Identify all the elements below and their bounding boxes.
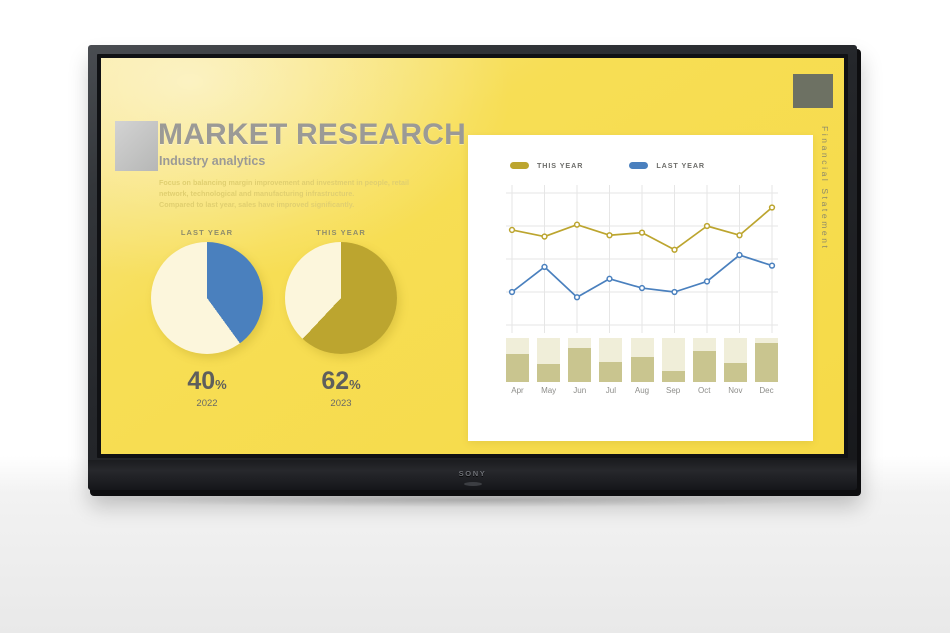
bar-axis-label: Aug	[631, 386, 654, 395]
legend-item-last-year: LAST YEAR	[629, 161, 705, 170]
line-chart	[506, 185, 778, 333]
decorative-olive-block	[793, 74, 833, 108]
bar-column	[631, 338, 654, 382]
decorative-gray-block	[115, 121, 158, 171]
legend-swatch-icon	[510, 162, 529, 169]
body-paragraph-2: Compared to last year, sales have improv…	[159, 199, 429, 210]
page-title: MARKET RESEARCH	[158, 118, 466, 152]
brand-logo: SONY	[459, 469, 487, 478]
chart-legend: THIS YEAR LAST YEAR	[510, 161, 705, 170]
pie-value: 62%	[281, 367, 401, 396]
pie-chart-this-year	[285, 242, 397, 354]
bar-axis-label: Dec	[755, 386, 778, 395]
pie-year: 2023	[281, 398, 401, 409]
pie-value-number: 62	[321, 367, 349, 395]
bar-axis-label: Jul	[599, 386, 622, 395]
bar-axis-label: Jun	[568, 386, 591, 395]
legend-label: LAST YEAR	[656, 161, 705, 170]
bar-fill	[506, 354, 529, 382]
presentation-slide: Financial Statement MARKET RESEARCH Indu…	[101, 58, 844, 454]
pie-year: 2022	[147, 398, 267, 409]
pie-caption: THIS YEAR	[281, 228, 401, 237]
page-subtitle: Industry analytics	[159, 154, 265, 168]
television-display: Financial Statement MARKET RESEARCH Indu…	[88, 45, 861, 496]
bar-fill	[599, 362, 622, 382]
bar-fill	[724, 363, 747, 382]
chart-card: THIS YEAR LAST YEAR AprMayJunJulAugSepOc…	[468, 135, 813, 441]
bar-column	[662, 338, 685, 382]
bar-chart	[506, 338, 778, 382]
bar-axis-label: Sep	[662, 386, 685, 395]
bar-fill	[693, 351, 716, 382]
pie-caption: LAST YEAR	[147, 228, 267, 237]
legend-swatch-icon	[629, 162, 648, 169]
pie-value: 40%	[147, 367, 267, 396]
bar-axis-label: May	[537, 386, 560, 395]
bar-fill	[755, 343, 778, 382]
bar-axis-label: Apr	[506, 386, 529, 395]
bar-axis-label: Oct	[693, 386, 716, 395]
bar-column	[599, 338, 622, 382]
bar-fill	[537, 364, 560, 382]
bar-fill	[568, 348, 591, 382]
bar-chart-axis-labels: AprMayJunJulAugSepOctNovDec	[506, 386, 778, 395]
pie-value-unit: %	[215, 377, 227, 392]
bar-column	[724, 338, 747, 382]
pie-chart-last-year	[151, 242, 263, 354]
pie-value-unit: %	[349, 377, 361, 392]
bar-column	[506, 338, 529, 382]
tv-bezel: Financial Statement MARKET RESEARCH Indu…	[88, 45, 857, 490]
tv-chin: SONY	[88, 460, 857, 490]
bar-column	[568, 338, 591, 382]
vertical-section-label: Financial Statement	[814, 126, 830, 251]
bar-column	[537, 338, 560, 382]
tv-screen: Financial Statement MARKET RESEARCH Indu…	[101, 58, 844, 454]
legend-label: THIS YEAR	[537, 161, 583, 170]
bar-fill	[662, 371, 685, 382]
bar-axis-label: Nov	[724, 386, 747, 395]
legend-item-this-year: THIS YEAR	[510, 161, 583, 170]
ir-receiver	[464, 482, 482, 486]
bar-column	[755, 338, 778, 382]
pie-value-number: 40	[187, 367, 215, 395]
body-paragraph-1: Focus on balancing margin improvement an…	[159, 177, 429, 199]
bar-column	[693, 338, 716, 382]
bar-fill	[631, 357, 654, 382]
